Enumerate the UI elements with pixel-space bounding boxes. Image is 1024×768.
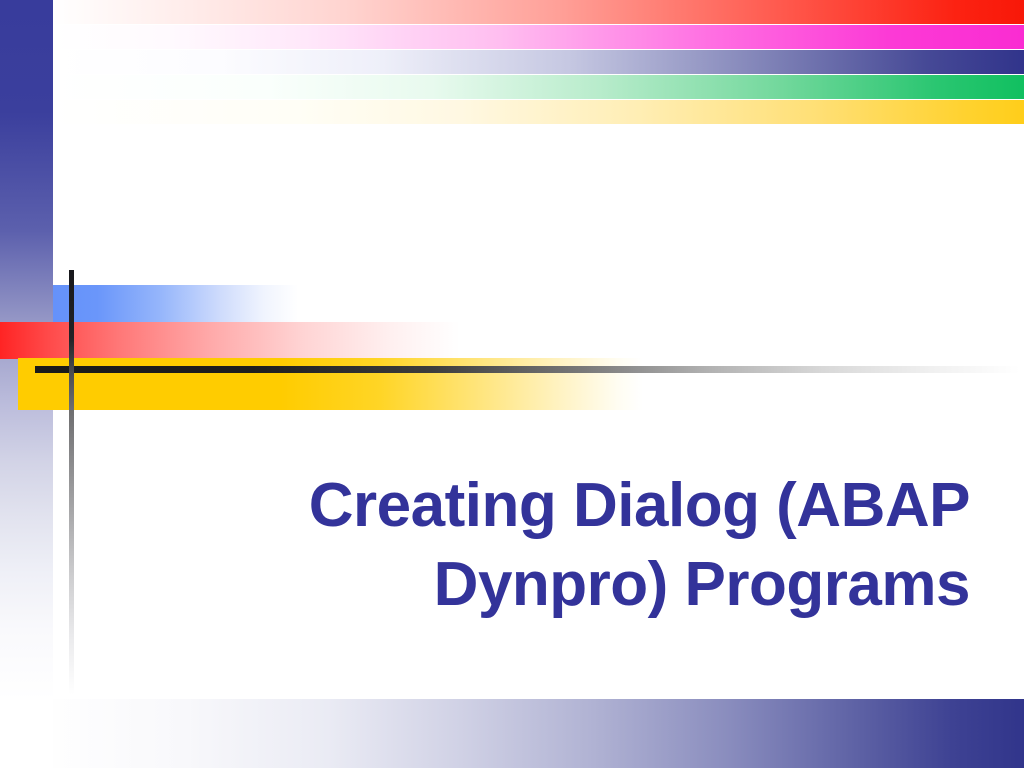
top-band-green xyxy=(53,75,1024,99)
bottom-gradient-strip xyxy=(0,699,1024,768)
top-band-magenta xyxy=(53,25,1024,49)
vertical-rule xyxy=(69,270,74,695)
horizontal-rule xyxy=(35,366,1020,373)
bottom-strip-left-cap xyxy=(0,699,53,768)
slide-canvas: Creating Dialog (ABAP Dynpro) Programs xyxy=(0,0,1024,768)
slide-title: Creating Dialog (ABAP Dynpro) Programs xyxy=(120,466,970,625)
blue-accent-bar xyxy=(53,285,298,323)
top-band-yellow xyxy=(53,100,1024,124)
top-band-purple xyxy=(53,50,1024,74)
top-band-red xyxy=(53,0,1024,24)
